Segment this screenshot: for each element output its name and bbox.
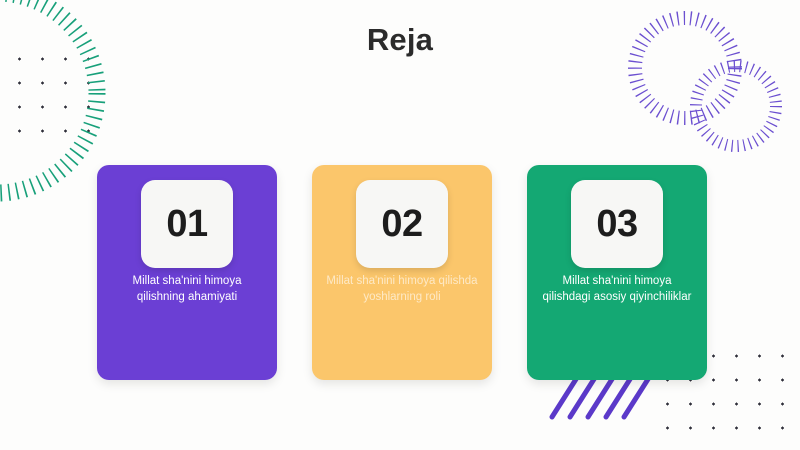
number-badge: 02 (356, 180, 448, 268)
number-badge: 03 (571, 180, 663, 268)
card-number: 01 (166, 205, 207, 243)
card-02[interactable]: 02 Millat sha'nini himoya qilishda yoshl… (312, 165, 492, 380)
page-title: Reja (0, 22, 800, 58)
cards-row: 01 Millat sha'nini himoya qilishning aha… (97, 165, 707, 380)
card-caption: Millat sha'nini himoya qilishda yoshlarn… (322, 274, 482, 305)
slide-canvas: Reja 01 Millat sha'nini himoya qilishnin… (0, 0, 800, 450)
card-caption: Millat sha'nini himoya qilishdagi asosiy… (537, 274, 697, 305)
card-number: 03 (596, 205, 637, 243)
dot-grid-decoration-top-left (6, 45, 106, 150)
card-number: 02 (381, 205, 422, 243)
number-badge: 01 (141, 180, 233, 268)
card-03[interactable]: 03 Millat sha'nini himoya qilishdagi aso… (527, 165, 707, 380)
card-caption: Millat sha'nini himoya qilishning ahamiy… (107, 274, 267, 305)
card-01[interactable]: 01 Millat sha'nini himoya qilishning aha… (97, 165, 277, 380)
